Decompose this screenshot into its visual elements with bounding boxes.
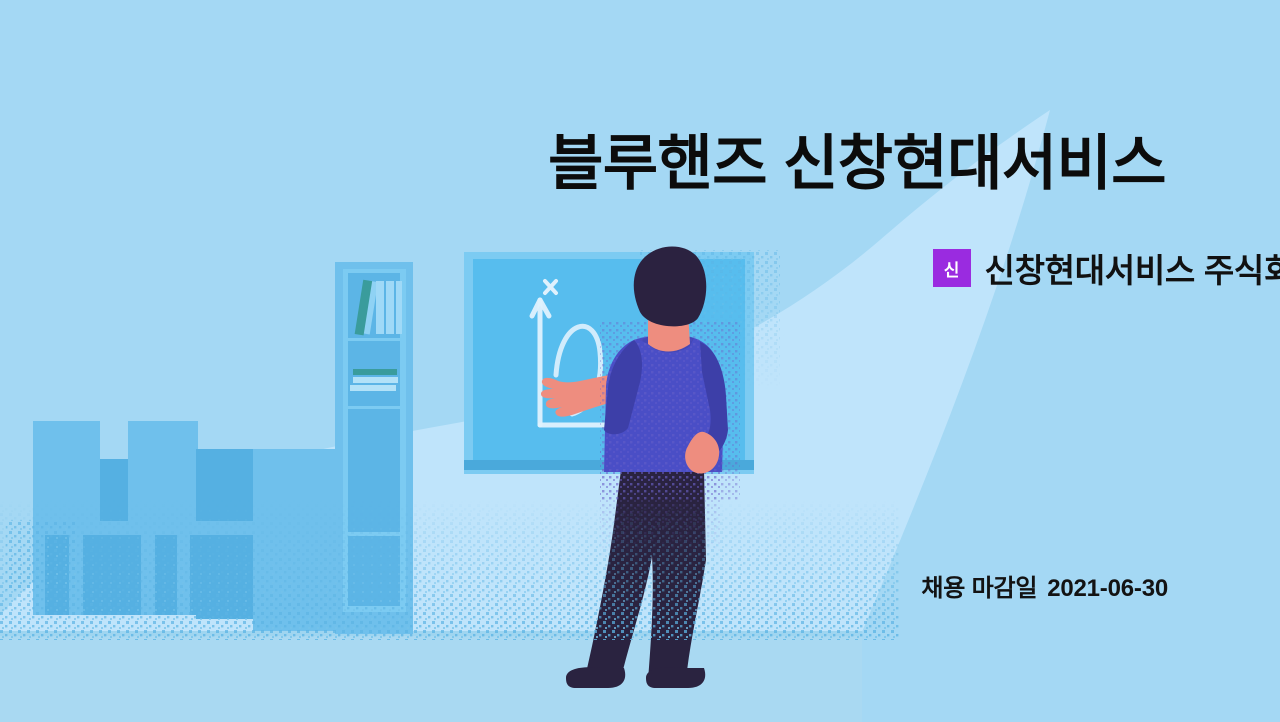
- right-shoe: [646, 667, 705, 688]
- head: [634, 246, 707, 326]
- office-illustration: [0, 0, 1280, 722]
- floor-band: [0, 635, 862, 722]
- left-speckle: [6, 520, 76, 590]
- job-posting-banner: 블루핸즈 신창현대서비스 신 신창현대서비스 주식회 채용 마감일2021-06…: [0, 0, 1280, 722]
- left-shoe: [566, 667, 625, 688]
